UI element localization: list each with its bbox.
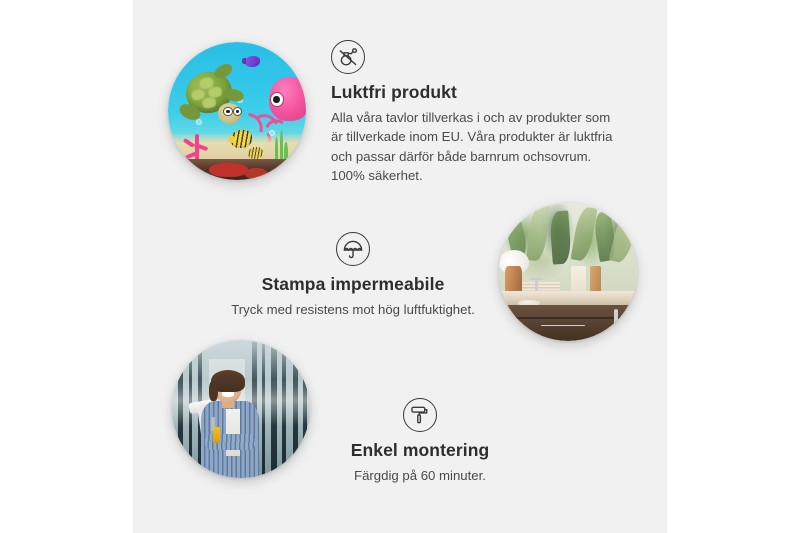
- photo-painter: [172, 340, 310, 478]
- feature-title: Luktfri produkt: [331, 82, 623, 103]
- photo-bathroom: [499, 203, 637, 341]
- feature-title: Enkel montering: [295, 440, 545, 461]
- leaf-icon: [550, 210, 573, 264]
- paint-roller-icon: [403, 398, 437, 432]
- seabed-rock: [209, 163, 248, 177]
- feature-odorless: Luktfri produkt Alla våra tavlor tillver…: [331, 40, 623, 185]
- seabed-rock: [245, 168, 267, 179]
- leaf-icon: [570, 206, 597, 263]
- paint-tool-yellow: [213, 427, 220, 444]
- leaf-icon: [526, 204, 550, 262]
- promo-graphic: Luktfri produkt Alla våra tavlor tillver…: [0, 0, 800, 533]
- vanity-cabinet: [507, 305, 637, 341]
- no-spray-bottle-icon: [331, 40, 365, 74]
- hair: [209, 381, 217, 400]
- feature-title: Stampa impermeabile: [203, 274, 503, 295]
- feature-body: Alla våra tavlor tillverkas i och av pro…: [331, 108, 623, 185]
- turtle-eye: [223, 107, 233, 117]
- photo-aquarium: [168, 42, 306, 180]
- feature-body: Tryck med resistens mot hög luftfuktighe…: [203, 300, 503, 319]
- drawer-handle[interactable]: [541, 325, 585, 326]
- feature-waterproof: Stampa impermeabile Tryck med resistens …: [203, 232, 503, 319]
- feature-body: Färgdig på 60 minuter.: [295, 466, 545, 485]
- smile: [222, 392, 234, 396]
- feature-easy: Enkel montering Färgdig på 60 minuter.: [295, 398, 545, 485]
- umbrella-icon: [336, 232, 370, 266]
- door-handle[interactable]: [614, 309, 619, 332]
